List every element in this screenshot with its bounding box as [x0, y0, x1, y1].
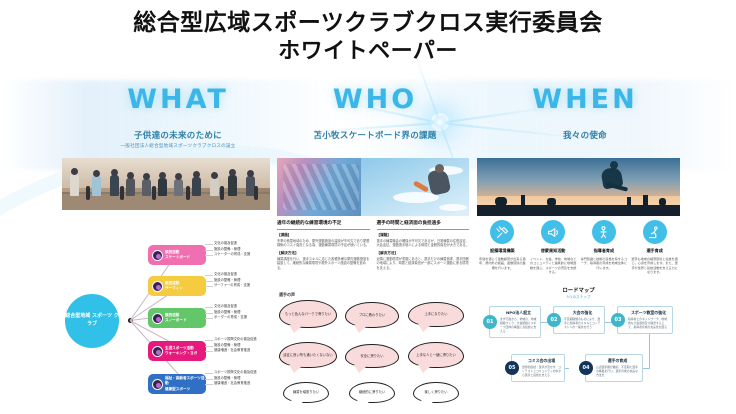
roadmap-step-heading: 大会の強化 — [564, 310, 601, 316]
voice-bubble: 上手になりたい — [408, 302, 464, 327]
mindmap-leaves-2: 文化の普及促進 施設の整備・管理 ボーダーの育成・支援 — [210, 303, 270, 322]
mindmap-leaf: 施設の整備・管理 — [210, 311, 270, 314]
section-what: WHAT 子供達の未来のために 一般社団法人総合型地域スポーツクラブクロスの設立 — [78, 84, 278, 149]
mindmap-node-4[interactable]: 福祉・高齢者スポーツ活動 健康型スポーツ — [148, 374, 206, 394]
mindmap-leaf: 施設の整備・管理 — [210, 344, 270, 347]
section-who-subtitle: 苫小牧スケートボード界の課題 — [285, 129, 465, 141]
node-bullet-icon — [152, 250, 163, 261]
voice-bubble: 楽しく滑りたい — [413, 382, 459, 403]
node-bullet-icon — [152, 346, 163, 357]
photo-skatepark-group — [62, 158, 270, 210]
mission-label: 啓蒙周知活動 — [530, 248, 577, 254]
page-subtitle: ホワイトペーパー — [0, 38, 736, 67]
mission-text: 専門知識と技術の資格を有するコーチ、指導者の育成を地域全体に行います。 — [581, 257, 628, 270]
roadmap-step-heading: NPO法人設立 — [500, 310, 537, 316]
mindmap-node-4-subtitle: 健康型スポーツ — [165, 387, 190, 391]
mindmap-leaf: スケーターの育成・支援 — [210, 253, 270, 256]
roadmap-subtitle: 5つのステップ — [477, 295, 680, 300]
roadmap-step-text: 不定期開催のものにより、選手と指導者のスキルとコンテストへの一般化を行う — [564, 318, 601, 330]
issue-block-label: 【課題】 — [377, 233, 470, 238]
issue-block-label: 【課題】 — [277, 233, 370, 238]
photo-skater-ollie — [277, 158, 469, 216]
roadmap-step-03[interactable]: 03 スポーツ教室の強化 指導者とのネットワーク、地域的な大会運営及び練習する上… — [617, 306, 673, 334]
issue-block-text: 近隣に運動環境が重複にあると、選手だけの練習追求、選手団側の地域により、時間と経… — [377, 257, 470, 270]
mindmap-node-0-subtitle: スケートボード — [165, 255, 190, 259]
section-who: WHO 苫小牧スケートボード界の課題 — [285, 84, 465, 141]
mission-item-1: 啓蒙周知活動 イベント、大会、学校、地域などのコミュニティと連携的に地域運動を通… — [528, 220, 579, 274]
section-what-caption: 一般社団法人総合型地域スポーツクラブクロスの設立 — [78, 143, 278, 149]
mindmap-diagram: 総合型地域 スポーツ クラブ 競技活動 スケートボード 文化の普及促進 — [62, 240, 270, 410]
mindmap-core-node: 総合型地域 スポーツ クラブ — [65, 294, 119, 348]
issue-block: 【課題】 冬季の積雪地域のため、屋外運動施設の建設が不可欠であり屋根構築のコスト… — [277, 233, 370, 248]
voice-bubble: もっと色んなパークで滑りたい — [279, 300, 337, 328]
mindmap-leaf: サーファーの育成・支援 — [210, 284, 270, 287]
roadmap-step-heading: 選手の育成 — [596, 358, 639, 364]
mindmap-node-2-title: 競技活動 — [165, 313, 179, 317]
mindmap-leaf: 施設の整備・管理 — [210, 248, 270, 251]
voice-bubble: 安全に滑りたい — [345, 344, 399, 368]
section-who-keyword: WHO — [285, 84, 465, 115]
megaphone-icon — [541, 220, 565, 244]
page-title: 総合型広域スポーツクラブクロス実行委員会 — [0, 0, 736, 38]
tools-icon — [490, 220, 514, 244]
mission-item-0: 設備環境構築 年間を通じて運動練習が出来る通年、屋内外の施設、運動環境の整備を行… — [477, 220, 528, 274]
mission-icon-row: 設備環境構築 年間を通じて運動練習が出来る通年、屋内外の施設、運動環境の整備を行… — [477, 220, 680, 274]
roadmap-step-number: 03 — [611, 313, 625, 327]
mission-text: 選手も地域の練習環境と競技を通じ、心身を育成します。また、選手が世界と競技活動を… — [631, 257, 678, 274]
roadmap-step-text: まず行政から、地域の、地域組織づくり、大会組織にスポーツ団体の構築に直接的に支え… — [500, 318, 537, 334]
voice-bubble: プロに教わりたい — [345, 302, 399, 328]
roadmap-flow: 01 NPO法人設立 まず行政から、地域の、地域組織づくり、大会組織にスポーツ団… — [477, 302, 680, 410]
mindmap-node-1[interactable]: 競技活動 サーフィン — [148, 276, 206, 296]
roadmap-step-01[interactable]: 01 NPO法人設立 まず行政から、地域の、地域組織づくり、大会組織にスポーツ団… — [489, 306, 541, 338]
roadmap-step-number: 02 — [547, 313, 561, 327]
panels-row: 総合型地域 スポーツ クラブ 競技活動 スケートボード 文化の普及促進 — [0, 158, 736, 414]
mission-label: 指導者育成 — [581, 248, 628, 254]
mindmap-leaf: 文化の普及促進 — [210, 273, 270, 276]
roadmap-step-text: 世界的競技・選手が活かす、コンテストとコミュニティの中から選手と競技を支える — [522, 366, 561, 378]
mission-text: イベント、大会、学校、地域などのコミュニティと連携的に地域運動を通じ、スポーツの… — [530, 257, 577, 274]
mindmap-leaf: ボーダーの育成・支援 — [210, 316, 270, 319]
roadmap-step-heading: コミス会の出場 — [522, 358, 561, 364]
mindmap-node-0[interactable]: 競技活動 スケートボード — [148, 245, 206, 265]
roadmap-step-number: 04 — [579, 361, 593, 375]
mindmap-node-4-title: 福祉・高齢者スポーツ活動 — [165, 376, 204, 385]
roadmap-step-04[interactable]: 04 選手の育成 公認選手権が継続、不定期に選手の構築を行い、選手育成の充実な方… — [585, 354, 643, 382]
roadmap-title: ロードマップ — [477, 286, 680, 294]
mindmap-node-3-subtitle: ウォーキング・ヨガ — [165, 351, 197, 355]
issue-column-0: 通年の継続的な練習環境の不足 【課題】 冬季の積雪地域のため、屋外運動施設の建設… — [277, 220, 370, 288]
voice-bubble: 継続的に滑りたい — [349, 382, 395, 403]
roadmap-step-02[interactable]: 02 大会の強化 不定期開催のものにより、選手と指導者のスキルとコンテストへの一… — [553, 306, 605, 334]
mindmap-node-3[interactable]: 生涯スポーツ活動 ウォーキング・ヨガ — [148, 341, 206, 361]
issue-block-text: 選手の練習機会の確保が不可欠であるが、日常練習の往復遠征、大会遠征、運動選手個人… — [377, 239, 470, 248]
roadmap-step-number: 05 — [505, 361, 519, 375]
node-bullet-icon — [152, 281, 163, 292]
mindmap-node-2[interactable]: 競技活動 スノーボード — [148, 308, 206, 328]
section-what-subtitle: 子供達の未来のために — [78, 129, 278, 141]
coach-icon — [592, 220, 616, 244]
mindmap-node-3-title: 生涯スポーツ活動 — [165, 346, 194, 350]
section-what-keyword: WHAT — [78, 84, 278, 115]
voice-bubble: 練習を頑張りたい — [283, 382, 329, 403]
mindmap-node-0-title: 競技活動 — [165, 250, 179, 254]
mindmap-leaf: 文化の普及促進 — [210, 305, 270, 308]
mindmap-leaves-0: 文化の普及促進 施設の整備・管理 スケーターの育成・支援 — [210, 240, 270, 259]
mindmap-leaf: スポーツ振興文化の普及促進 — [210, 338, 270, 341]
section-when-subtitle: 我々の使命 — [490, 129, 680, 141]
mindmap-core-label: 総合型地域 スポーツ クラブ — [65, 313, 119, 329]
mindmap-leaf: 施設の整備・管理 — [210, 279, 270, 282]
mindmap-leaf: 健康増進・社会教育推進 — [210, 349, 270, 352]
mindmap-leaf: スポーツ振興文化の普及促進 — [210, 371, 270, 374]
voice-bubble: 上手な人と一緒に滑りたい — [408, 342, 464, 368]
panel-what: 総合型地域 スポーツ クラブ 競技活動 スケートボード 文化の普及促進 — [62, 158, 270, 410]
mindmap-leaves-3: スポーツ振興文化の普及促進 施設の整備・管理 健康増進・社会教育推進 — [210, 336, 270, 355]
mindmap-node-1-title: 競技活動 — [165, 281, 179, 285]
node-bullet-icon — [152, 313, 163, 324]
mission-item-3: 選手育成 選手も地域の練習環境と競技を通じ、心身を育成します。また、選手が世界と… — [629, 220, 680, 274]
mindmap-leaf: 文化の普及促進 — [210, 242, 270, 245]
mission-label: 設備環境構築 — [479, 248, 526, 254]
roadmap-step-text: 指導者とのネットワーク、地域的な大会運営及び練習する上で、指導者育成の充実化を図… — [628, 318, 669, 330]
skater-icon — [643, 220, 667, 244]
roadmap-step-heading: スポーツ教室の強化 — [628, 310, 669, 316]
mission-label: 選手育成 — [631, 248, 678, 254]
mission-item-2: 指導者育成 専門知識と技術の資格を有するコーチ、指導者の育成を地域全体に行います… — [579, 220, 630, 274]
issues-columns: 通年の継続的な練習環境の不足 【課題】 冬季の積雪地域のため、屋外運動施設の建設… — [277, 220, 469, 288]
issue-heading: 選手の時間と経済面の負担過多 — [377, 220, 470, 230]
voice-bubble: 遠征に良い所も通いたくないない — [279, 342, 337, 368]
issue-block-text: 冬季の積雪地域のため、屋外運動施設の建設が不可欠であり屋根構築のコスト負担となる… — [277, 239, 370, 248]
section-when-keyword: WHEN — [490, 84, 680, 115]
issue-column-1: 選手の時間と経済面の負担過多 【課題】 選手の練習機会の確保が不可欠であるが、日… — [377, 220, 470, 288]
issue-block: 【解決方法】 近隣に運動環境が重複にあると、選手だけの練習追求、選手団側の地域に… — [377, 251, 470, 270]
roadmap-step-text: 公認選手権が継続、不定期に選手の構築を行い、選手育成の充実な方法を — [596, 366, 639, 378]
node-bullet-icon — [152, 379, 163, 390]
section-heading-row: WHAT 子供達の未来のために 一般社団法人総合型地域スポーツクラブクロスの設立… — [0, 84, 736, 146]
issue-block-label: 【解決方法】 — [277, 251, 370, 256]
photo-sunset-silhouette — [477, 158, 680, 216]
slide-root: 総合型広域スポーツクラブクロス実行委員会 ホワイトペーパー WHAT 子供達の未… — [0, 0, 736, 414]
mindmap-leaf: 施設の整備・管理 — [210, 377, 270, 380]
voice-bubbles: もっと色んなパークで滑りたい プロに教わりたい 上手になりたい 遠征に良い所も通… — [277, 298, 469, 410]
panel-who: 通年の継続的な練習環境の不足 【課題】 冬季の積雪地域のため、屋外運動施設の建設… — [277, 158, 469, 410]
section-when: WHEN 我々の使命 — [490, 84, 680, 141]
mindmap-leaves-1: 文化の普及促進 施設の整備・管理 サーファーの育成・支援 — [210, 271, 270, 290]
roadmap-step-05[interactable]: 05 コミス会の出場 世界的競技・選手が活かす、コンテストとコミュニティの中から… — [511, 354, 565, 382]
mission-text: 年間を通じて運動練習が出来る通年、屋内外の施設、運動環境の整備を行います。 — [479, 257, 526, 270]
mindmap-leaves-4: スポーツ振興文化の普及促進 施設の整備・管理 健康増進・社会教育推進 — [210, 369, 270, 388]
issue-block-label: 【解決方法】 — [377, 251, 470, 256]
roadmap-step-number: 01 — [483, 315, 497, 329]
issue-block-text: 練習講座を行い、選手スキルに応じた各種多様な屋内運動施設を建設して、継続的な練習… — [277, 257, 370, 270]
issue-heading: 通年の継続的な練習環境の不足 — [277, 220, 370, 230]
panel-when: 設備環境構築 年間を通じて運動練習が出来る通年、屋内外の施設、運動環境の整備を行… — [477, 158, 680, 410]
mindmap-node-2-subtitle: スノーボード — [165, 318, 187, 322]
mindmap-leaf: 健康増進・社会教育推進 — [210, 382, 270, 385]
issue-block: 【解決方法】 練習講座を行い、選手スキルに応じた各種多様な屋内運動施設を建設して… — [277, 251, 370, 270]
mindmap-node-1-subtitle: サーフィン — [165, 286, 183, 290]
issue-block: 【課題】 選手の練習機会の確保が不可欠であるが、日常練習の往復遠征、大会遠征、運… — [377, 233, 470, 248]
